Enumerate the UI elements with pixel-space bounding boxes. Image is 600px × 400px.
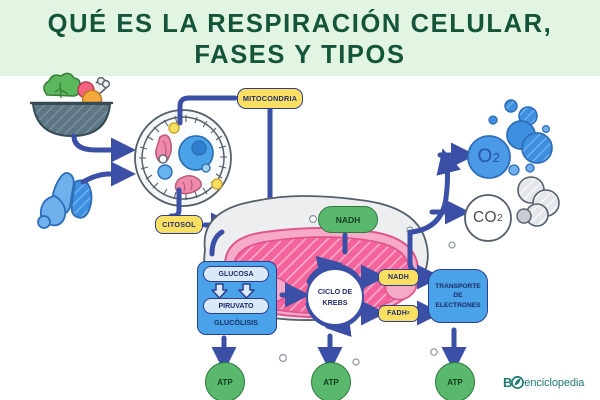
co2-text: CO [473,209,497,227]
bioenciclopedia-logo[interactable]: B enciclopedia [503,375,584,390]
infographic-canvas: QUÉ ES LA RESPIRACIÓN CELULAR, FASES Y T… [0,0,600,400]
logo-word: enciclopedia [524,377,584,389]
leaf-icon [511,376,524,389]
o2-text: O [478,146,493,168]
atp-output-3[interactable]: ATP [435,362,475,400]
co2-subscript: 2 [497,212,503,224]
atp-output-1[interactable]: ATP [205,362,245,400]
atp-output-2[interactable]: ATP [311,362,351,400]
label-glucolisis: GLUCÓLISIS [197,318,275,327]
o2-subscript: 2 [493,150,501,165]
label-glucosa[interactable]: GLUCOSA [203,266,269,282]
label-piruvato[interactable]: PIRUVATO [203,298,269,314]
label-co2: CO2 [462,194,514,242]
label-o2: O2 [466,134,512,180]
